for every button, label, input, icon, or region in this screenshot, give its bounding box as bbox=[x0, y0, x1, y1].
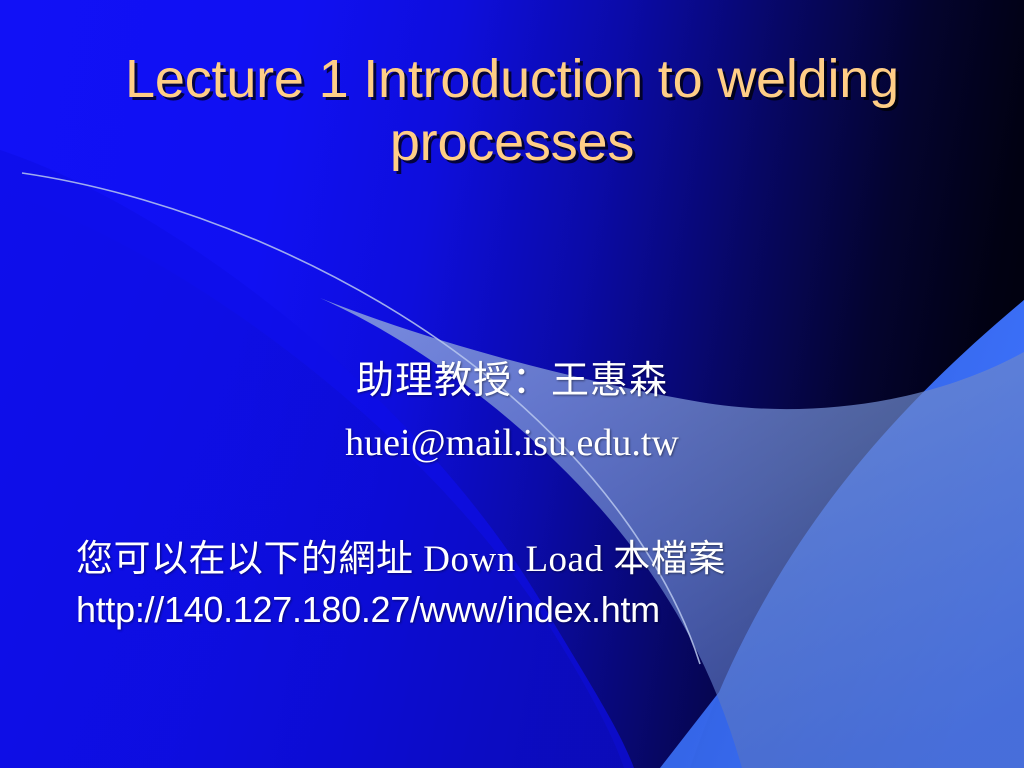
presenter-name: 助理教授：王惠森 bbox=[0, 362, 1024, 400]
slide-title: Lecture 1 Introduction to welding proces… bbox=[50, 48, 974, 174]
presenter-info-block: 助理教授：王惠森 huei@mail.isu.edu.tw bbox=[0, 362, 1024, 462]
download-info-block: 您可以在以下的網址 Down Load 本檔案 http://140.127.1… bbox=[76, 540, 976, 629]
download-instruction-text: 您可以在以下的網址 Down Load 本檔案 bbox=[76, 540, 976, 581]
download-url-link[interactable]: http://140.127.180.27/www/index.htm bbox=[76, 590, 976, 630]
presenter-email[interactable]: huei@mail.isu.edu.tw bbox=[0, 424, 1024, 462]
presentation-slide: Lecture 1 Introduction to welding proces… bbox=[0, 0, 1024, 768]
